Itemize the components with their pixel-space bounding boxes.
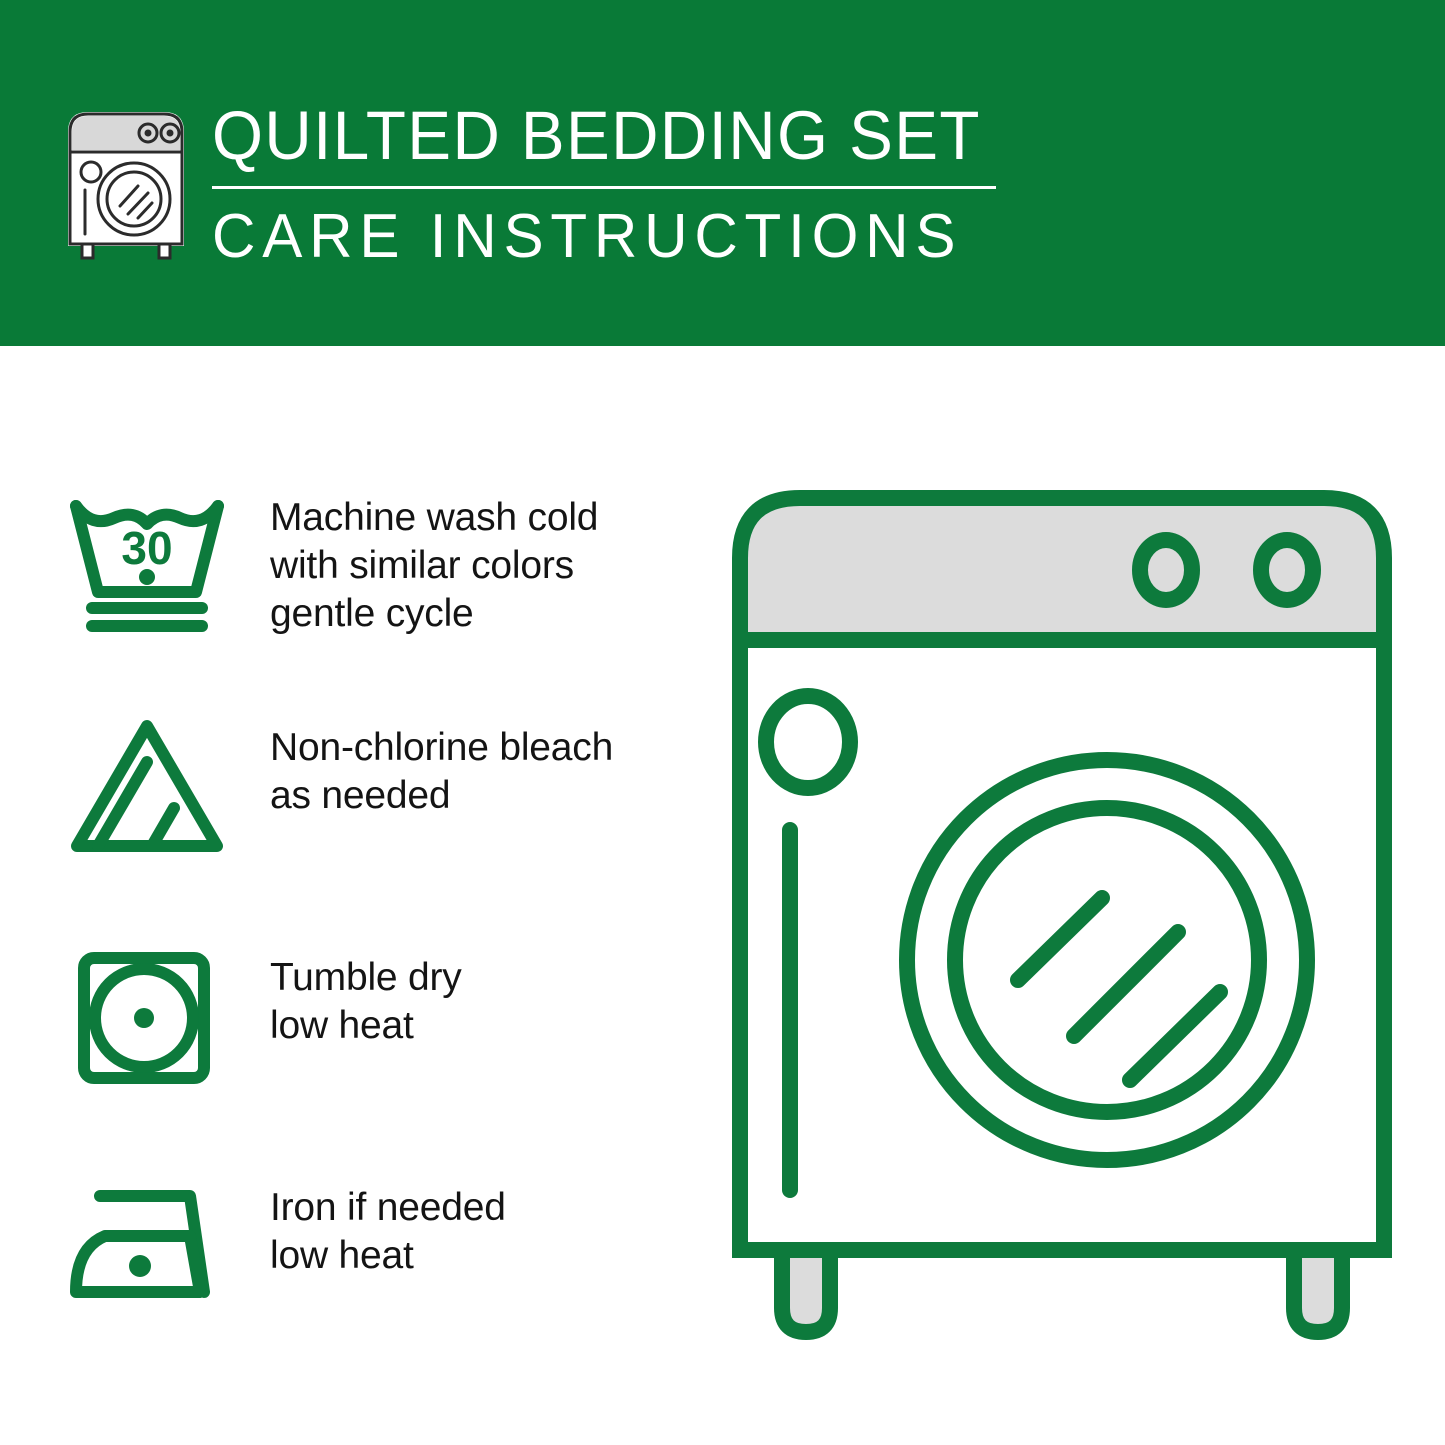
list-item: Tumble dry low heat xyxy=(62,940,702,1170)
header-band: QUILTED BEDDING SET CARE INSTRUCTIONS xyxy=(0,0,1445,346)
wash-dot xyxy=(139,569,155,585)
care-instructions-page: QUILTED BEDDING SET CARE INSTRUCTIONS xyxy=(0,0,1445,1445)
wash-tub-30-icon: 30 xyxy=(62,484,232,634)
title-divider xyxy=(212,186,996,189)
page-subtitle: CARE INSTRUCTIONS xyxy=(212,201,997,273)
care-symbol-slot xyxy=(62,940,242,1105)
iron-heat-dot xyxy=(129,1255,151,1277)
dry-heat-dot xyxy=(134,1008,154,1028)
header-titles: QUILTED BEDDING SET CARE INSTRUCTIONS xyxy=(212,96,1021,273)
care-label: Non-chlorine bleach as needed xyxy=(242,710,613,820)
care-label: Iron if needed low heat xyxy=(242,1170,506,1280)
list-item: Non-chlorine bleach as needed xyxy=(62,710,702,940)
list-item: 30 Machine wash cold with similar colors… xyxy=(62,480,702,710)
header-content: QUILTED BEDDING SET CARE INSTRUCTIONS xyxy=(62,96,1021,273)
control-panel xyxy=(740,498,1384,640)
washing-machine-illustration xyxy=(722,480,1402,1360)
care-symbol-slot: 30 xyxy=(62,480,242,645)
tumble-dry-icon xyxy=(62,944,232,1094)
wash-temperature-value: 30 xyxy=(121,522,172,574)
care-instruction-list: 30 Machine wash cold with similar colors… xyxy=(62,480,702,1400)
bleach-triangle-icon xyxy=(62,714,232,864)
leg-left xyxy=(782,1250,830,1332)
washing-machine-icon xyxy=(62,102,190,260)
leg-right xyxy=(1294,1250,1342,1332)
care-label: Tumble dry low heat xyxy=(242,940,462,1050)
care-label: Machine wash cold with similar colors ge… xyxy=(242,480,598,638)
list-item: Iron if needed low heat xyxy=(62,1170,702,1400)
care-symbol-slot xyxy=(62,1170,242,1335)
care-symbol-slot xyxy=(62,710,242,875)
page-title: QUILTED BEDDING SET xyxy=(212,96,981,176)
iron-icon xyxy=(62,1174,232,1324)
